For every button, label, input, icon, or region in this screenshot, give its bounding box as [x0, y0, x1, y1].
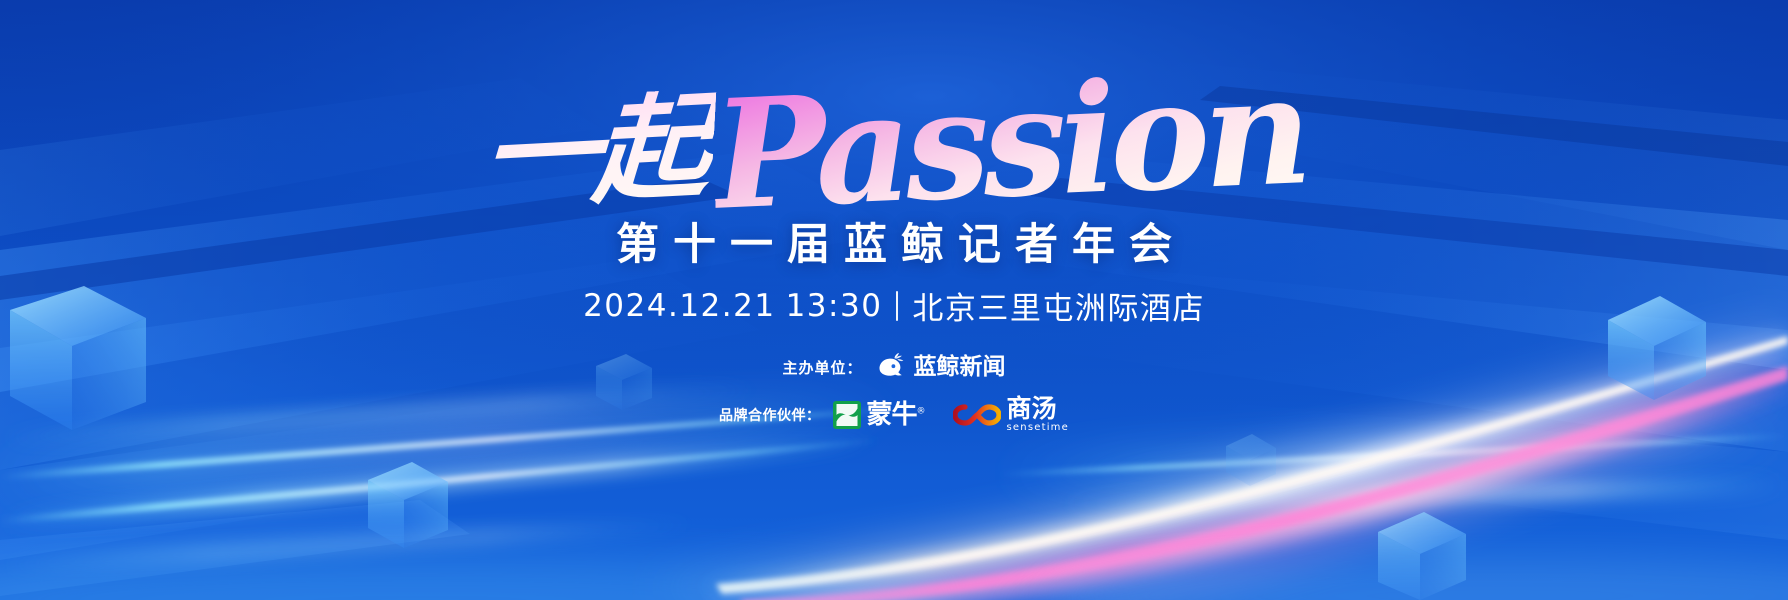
mengniu-logo: 蒙牛® — [832, 400, 925, 430]
sensetime-logo: 商汤 sensetime — [953, 396, 1069, 433]
event-date: 2024.12.21 — [583, 288, 776, 324]
event-datetime-venue: 2024.12.21 13:30 北京三里屯洲际酒店 — [583, 283, 1205, 328]
sensetime-infinity-icon — [953, 401, 1001, 429]
mengniu-logo-icon — [832, 400, 862, 430]
organizer-row: 主办单位： 蓝鲸新闻 — [782, 352, 1005, 382]
sensetime-name-cn: 商汤 — [1007, 396, 1069, 421]
partner-row: 品牌合作伙伴： 蒙牛® — [719, 396, 1069, 433]
sensetime-name-en: sensetime — [1007, 423, 1069, 433]
title-chinese: 一起 — [479, 88, 716, 216]
banner-content: 一起 Passion 第十一届蓝鲸记者年会 2024.12.21 13:30 北… — [0, 0, 1788, 600]
mengniu-name: 蒙牛® — [867, 402, 925, 428]
bluewhale-logo: 蓝鲸新闻 — [873, 352, 1006, 382]
main-title: 一起 Passion — [454, 46, 1334, 216]
title-english: Passion — [710, 55, 1308, 231]
event-time: 13:30 — [786, 288, 883, 324]
blue-whale-icon — [873, 352, 907, 382]
datetime-separator — [896, 291, 898, 321]
mengniu-trademark: ® — [917, 406, 925, 416]
organizer-name: 蓝鲸新闻 — [914, 356, 1006, 379]
sensetime-text: 商汤 sensetime — [1007, 396, 1069, 433]
organizer-label: 主办单位： — [782, 357, 862, 378]
partner-label: 品牌合作伙伴： — [719, 405, 821, 425]
event-venue: 北京三里屯洲际酒店 — [912, 283, 1205, 328]
event-banner: 一起 Passion 第十一届蓝鲸记者年会 2024.12.21 13:30 北… — [0, 0, 1788, 600]
whale-eye — [891, 365, 895, 369]
